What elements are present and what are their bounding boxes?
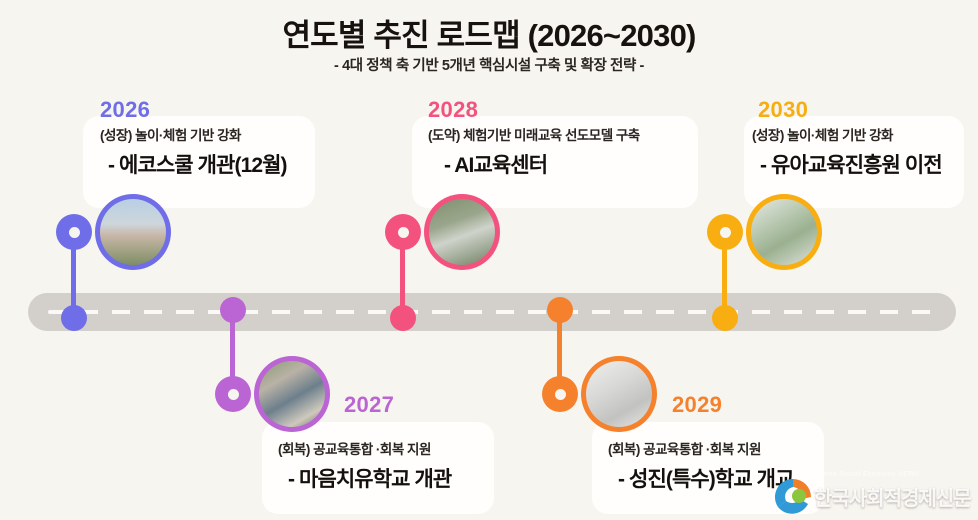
mind-healing-school-photo[interactable] xyxy=(254,356,330,432)
marker-hole-2029 xyxy=(555,389,566,400)
road-dot-2027 xyxy=(220,297,246,323)
seongjin-special-school-photo[interactable] xyxy=(581,356,657,432)
category-2026: (성장) 놀이·체험 기반 강화 xyxy=(100,124,241,144)
marker-donut-2026[interactable] xyxy=(56,214,92,250)
year-label-2029: 2029 xyxy=(672,392,722,418)
early-childhood-institute-photo-inner xyxy=(751,199,817,265)
year-label-2027: 2027 xyxy=(344,392,394,418)
year-label-2030: 2030 xyxy=(758,97,808,123)
marker-hole-2027 xyxy=(228,389,239,400)
marker-hole-2028 xyxy=(398,227,409,238)
eco-school-photo[interactable] xyxy=(95,194,171,270)
road-dot-2028 xyxy=(390,305,416,331)
mind-healing-school-photo-inner xyxy=(259,361,325,427)
project-2030: - 유아교육진흥원 이전 xyxy=(760,149,942,179)
page-title: 연도별 추진 로드맵 (2026~2030) xyxy=(0,10,978,55)
category-2029: (회복) 공교육통합 ·회복 지원 xyxy=(608,438,761,458)
category-2030: (성장) 놀이·체험 기반 강화 xyxy=(752,124,893,144)
early-childhood-institute-photo[interactable] xyxy=(746,194,822,270)
marker-donut-2028[interactable] xyxy=(385,214,421,250)
project-2028: - AI교육센터 xyxy=(444,149,547,179)
road-dot-2026 xyxy=(61,305,87,331)
project-2029: - 성진(특수)학교 개교 xyxy=(618,463,794,493)
year-label-2028: 2028 xyxy=(428,97,478,123)
marker-donut-2029[interactable] xyxy=(542,376,578,412)
marker-donut-2030[interactable] xyxy=(707,214,743,250)
marker-donut-2027[interactable] xyxy=(215,376,251,412)
newspaper-logo-icon xyxy=(770,474,816,520)
category-2028: (도약) 체험기반 미래교육 선도모델 구축 xyxy=(428,124,640,144)
timeline-road xyxy=(28,293,956,331)
eco-school-photo-inner xyxy=(100,199,166,265)
ai-education-center-photo[interactable] xyxy=(424,194,500,270)
project-2026: - 에코스쿨 개관(12월) xyxy=(108,149,287,179)
seongjin-special-school-photo-inner xyxy=(586,361,652,427)
project-2027: - 마음치유학교 개관 xyxy=(288,463,451,493)
road-center-dashes xyxy=(48,310,936,314)
watermark-name: 한국사회적경제신문 xyxy=(814,482,971,511)
watermark-tagline: Korea Social Economy NEWS xyxy=(816,471,920,478)
page-subtitle: - 4대 정책 축 기반 5개년 핵심시설 구축 및 확장 전략 - xyxy=(0,54,978,75)
watermark: Korea Social Economy NEWS 한국사회적경제신문 xyxy=(770,470,978,516)
year-label-2026: 2026 xyxy=(100,97,150,123)
ai-education-center-photo-inner xyxy=(429,199,495,265)
marker-hole-2030 xyxy=(720,227,731,238)
marker-hole-2026 xyxy=(69,227,80,238)
road-dot-2029 xyxy=(547,297,573,323)
road-dot-2030 xyxy=(712,305,738,331)
roadmap-infographic: 연도별 추진 로드맵 (2026~2030) - 4대 정책 축 기반 5개년 … xyxy=(0,0,978,516)
category-2027: (회복) 공교육통합 ·회복 지원 xyxy=(278,438,431,458)
